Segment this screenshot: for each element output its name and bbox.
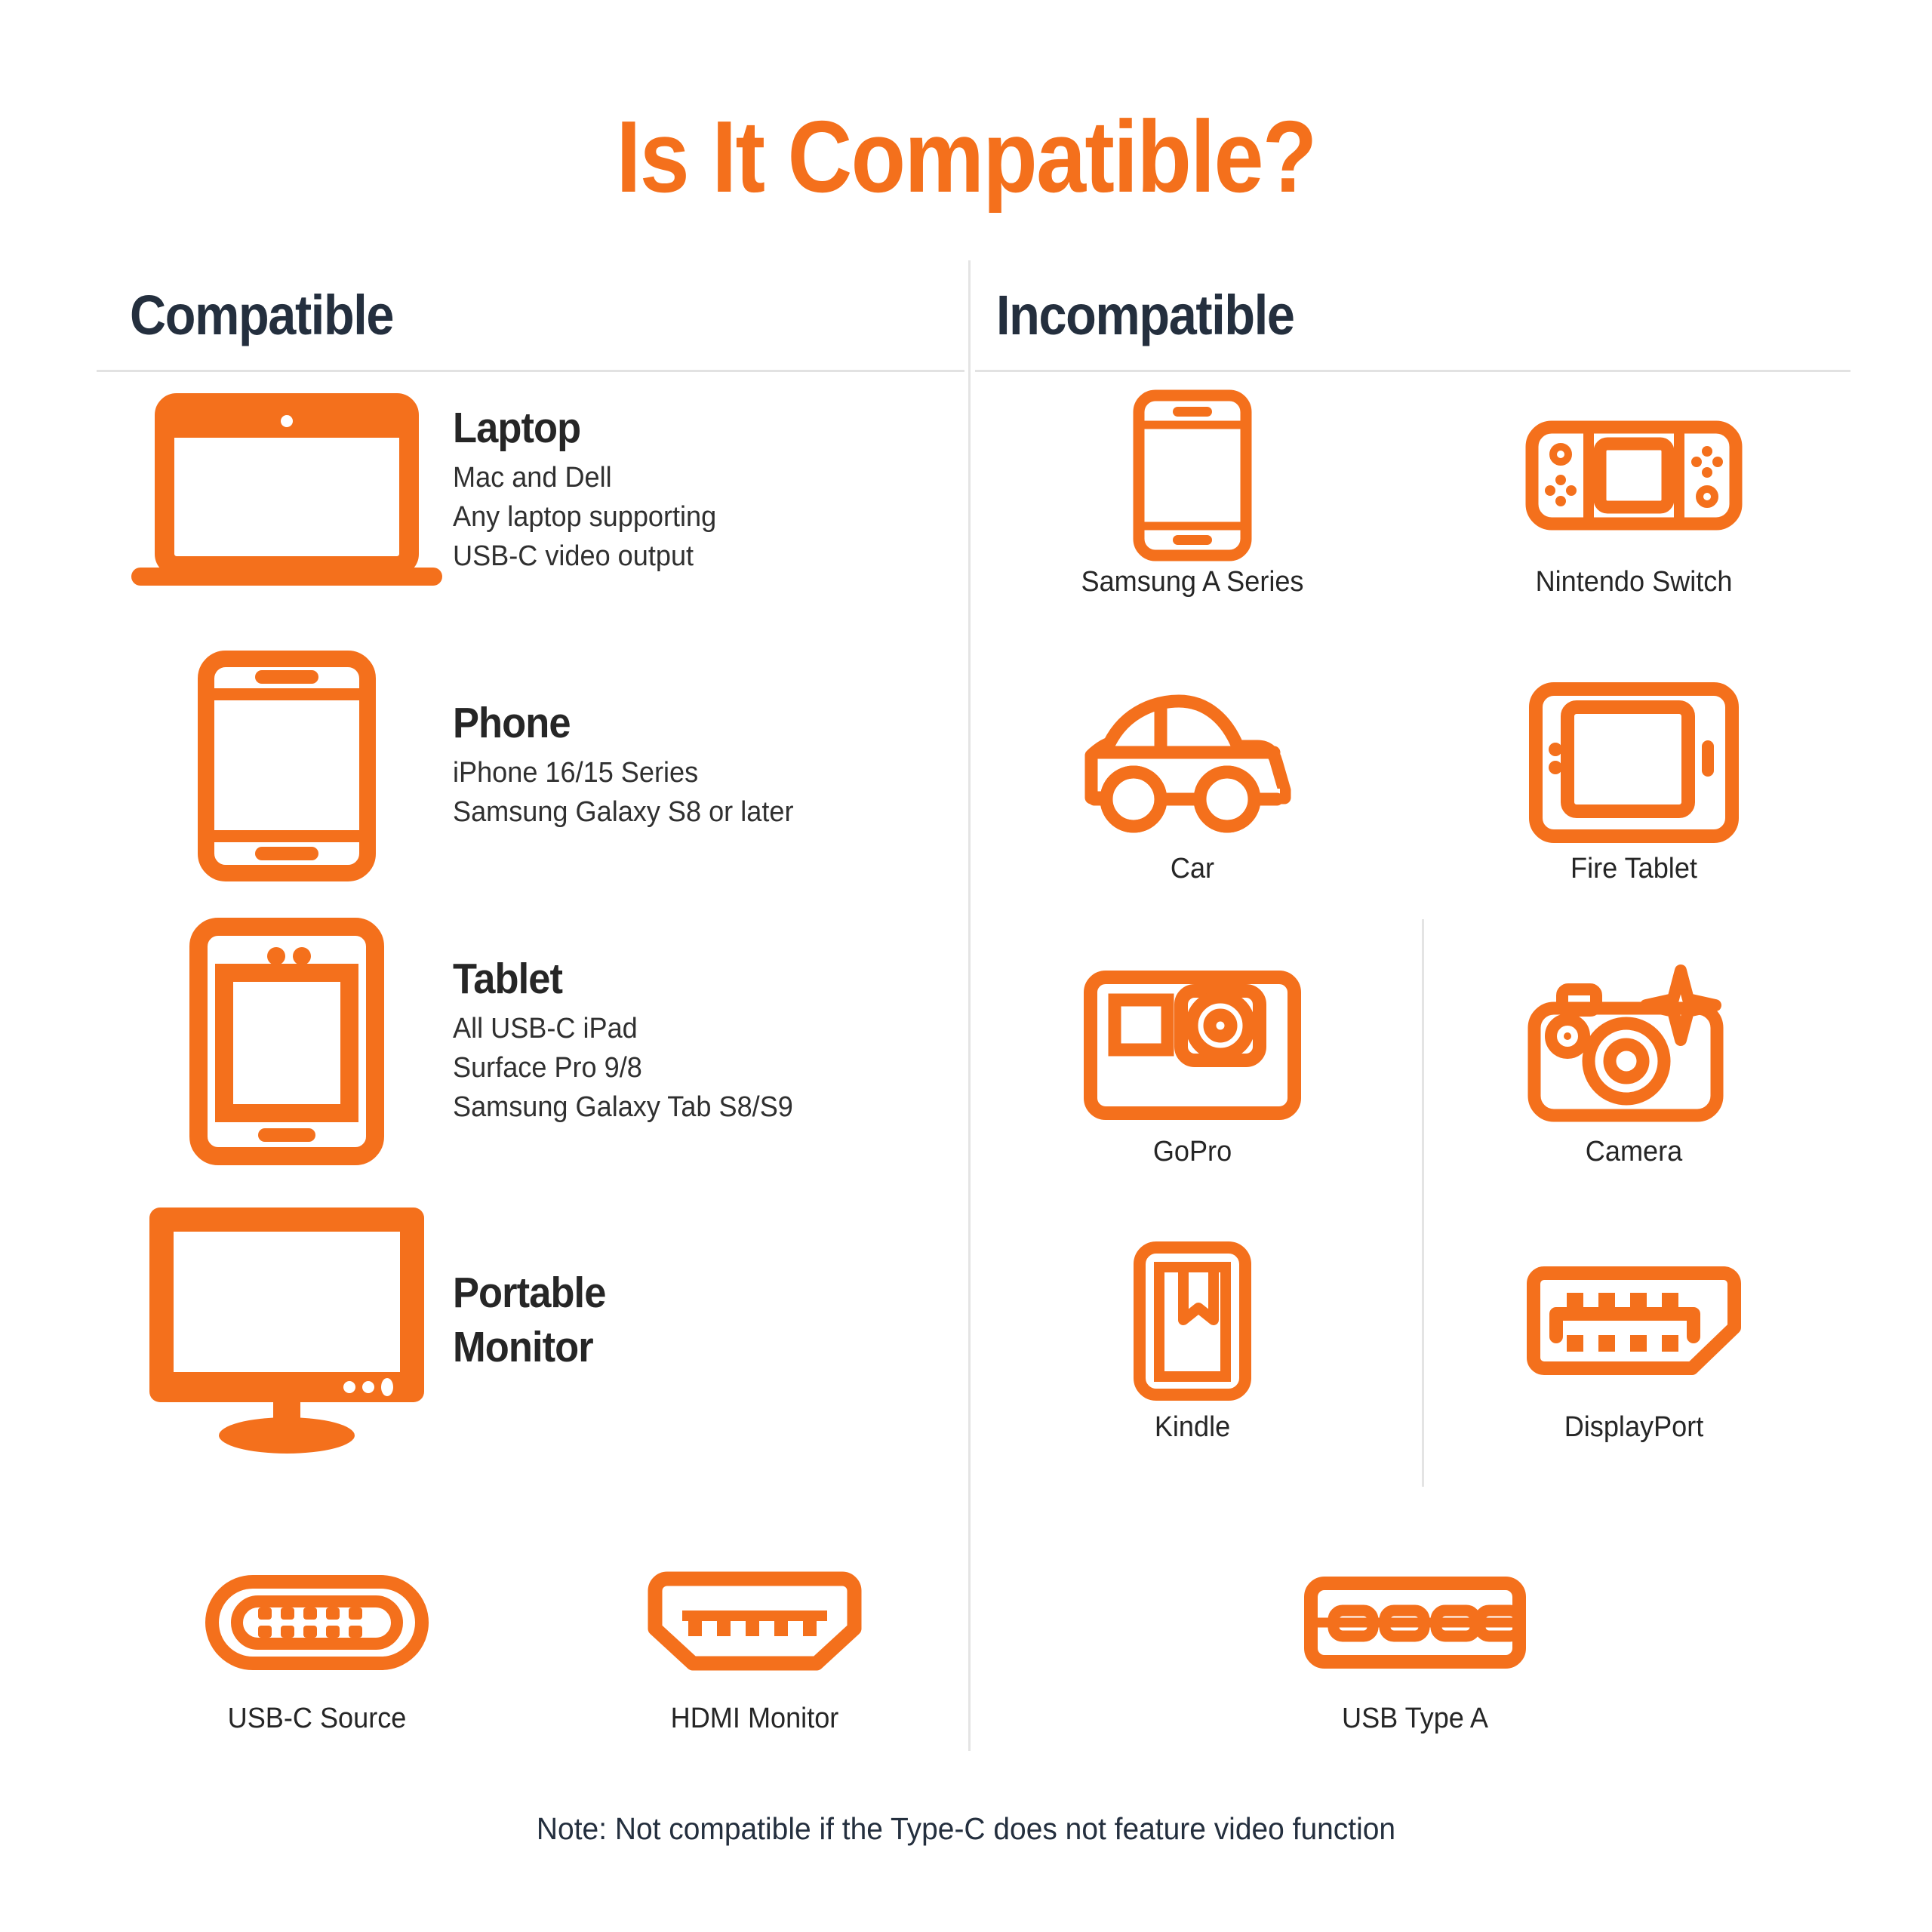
incompatible-item-camera: Camera (1475, 955, 1792, 1168)
game-console-icon (1475, 385, 1792, 566)
item-subline: Samsung Galaxy Tab S8/S9 (453, 1088, 793, 1128)
monitor-icon (128, 1200, 445, 1449)
phone-icon (128, 649, 445, 883)
item-caption: GoPro (1042, 1136, 1343, 1168)
heading-rule-right (975, 370, 1850, 372)
laptop-icon (128, 392, 445, 589)
heading-rule-left (97, 370, 964, 372)
connector-usb-type-a: USB Type A (1257, 1562, 1574, 1735)
incompatible-item-displayport: DisplayPort (1475, 1230, 1792, 1444)
item-title: Portable (453, 1270, 605, 1317)
camera-icon (1475, 955, 1792, 1136)
smartphone-icon (1034, 385, 1351, 566)
phone-text-block: Phone iPhone 16/15 Series Samsung Galaxy… (453, 700, 811, 832)
item-caption: Kindle (1042, 1411, 1343, 1444)
item-title: Monitor (453, 1324, 605, 1371)
infographic-page: Is It Compatible? Compatible Incompatibl… (0, 0, 1932, 1932)
tablet-text-block: Tablet All USB-C iPad Surface Pro 9/8 Sa… (453, 956, 811, 1128)
compatible-item-phone: Phone iPhone 16/15 Series Samsung Galaxy… (128, 649, 811, 883)
item-caption: Fire Tablet (1484, 853, 1785, 885)
monitor-text-block: Portable Monitor (453, 1270, 619, 1378)
usb-c-port-icon (158, 1562, 475, 1683)
incompatible-item-kindle: Kindle (1034, 1230, 1351, 1444)
incompatible-item-samsung-a-series: Samsung A Series (1034, 385, 1351, 598)
connector-usb-c-source: USB-C Source (158, 1562, 475, 1735)
item-caption: Nintendo Switch (1484, 566, 1785, 598)
item-subline: Any laptop supporting (453, 498, 716, 537)
incompatible-item-gopro: GoPro (1034, 955, 1351, 1168)
item-subline: iPhone 16/15 Series (453, 754, 793, 793)
item-title: Phone (453, 700, 783, 747)
item-subline: Mac and Dell (453, 459, 716, 498)
item-caption: Car (1042, 853, 1343, 885)
column-heading-compatible: Compatible (130, 283, 393, 347)
tablet-icon (128, 917, 445, 1166)
incompatible-inner-divider (1422, 919, 1424, 1487)
connector-hdmi-monitor: HDMI Monitor (596, 1562, 913, 1735)
compatible-item-portable-monitor: Portable Monitor (128, 1200, 619, 1449)
incompatible-item-nintendo-switch: Nintendo Switch (1475, 385, 1792, 598)
action-camera-icon (1034, 955, 1351, 1136)
laptop-text-block: Laptop Mac and Dell Any laptop supportin… (453, 405, 731, 577)
incompatible-item-fire-tablet: Fire Tablet (1475, 672, 1792, 885)
car-icon (1034, 672, 1351, 853)
hdmi-port-icon (596, 1562, 913, 1683)
item-title: Tablet (453, 956, 783, 1003)
page-title: Is It Compatible? (116, 106, 1817, 208)
footnote: Note: Not compatible if the Type-C does … (48, 1811, 1884, 1847)
item-subline: All USB-C iPad (453, 1010, 793, 1049)
compatible-item-laptop: Laptop Mac and Dell Any laptop supportin… (128, 392, 731, 589)
item-subline: Surface Pro 9/8 (453, 1049, 793, 1088)
connector-caption: USB Type A (1265, 1703, 1566, 1735)
column-divider (968, 260, 971, 1751)
item-caption: Camera (1484, 1136, 1785, 1168)
item-subline: USB-C video output (453, 537, 716, 577)
connector-caption: USB-C Source (167, 1703, 468, 1735)
ereader-icon (1034, 1230, 1351, 1411)
item-caption: DisplayPort (1484, 1411, 1785, 1444)
compatible-item-tablet: Tablet All USB-C iPad Surface Pro 9/8 Sa… (128, 917, 811, 1166)
item-title: Laptop (453, 405, 708, 452)
incompatible-item-car: Car (1034, 672, 1351, 885)
item-subline: Samsung Galaxy S8 or later (453, 793, 793, 832)
tablet-landscape-icon (1475, 672, 1792, 853)
displayport-icon (1475, 1230, 1792, 1411)
item-caption: Samsung A Series (1042, 566, 1343, 598)
column-heading-incompatible: Incompatible (996, 283, 1294, 347)
usb-a-port-icon (1257, 1562, 1574, 1683)
connector-caption: HDMI Monitor (605, 1703, 906, 1735)
